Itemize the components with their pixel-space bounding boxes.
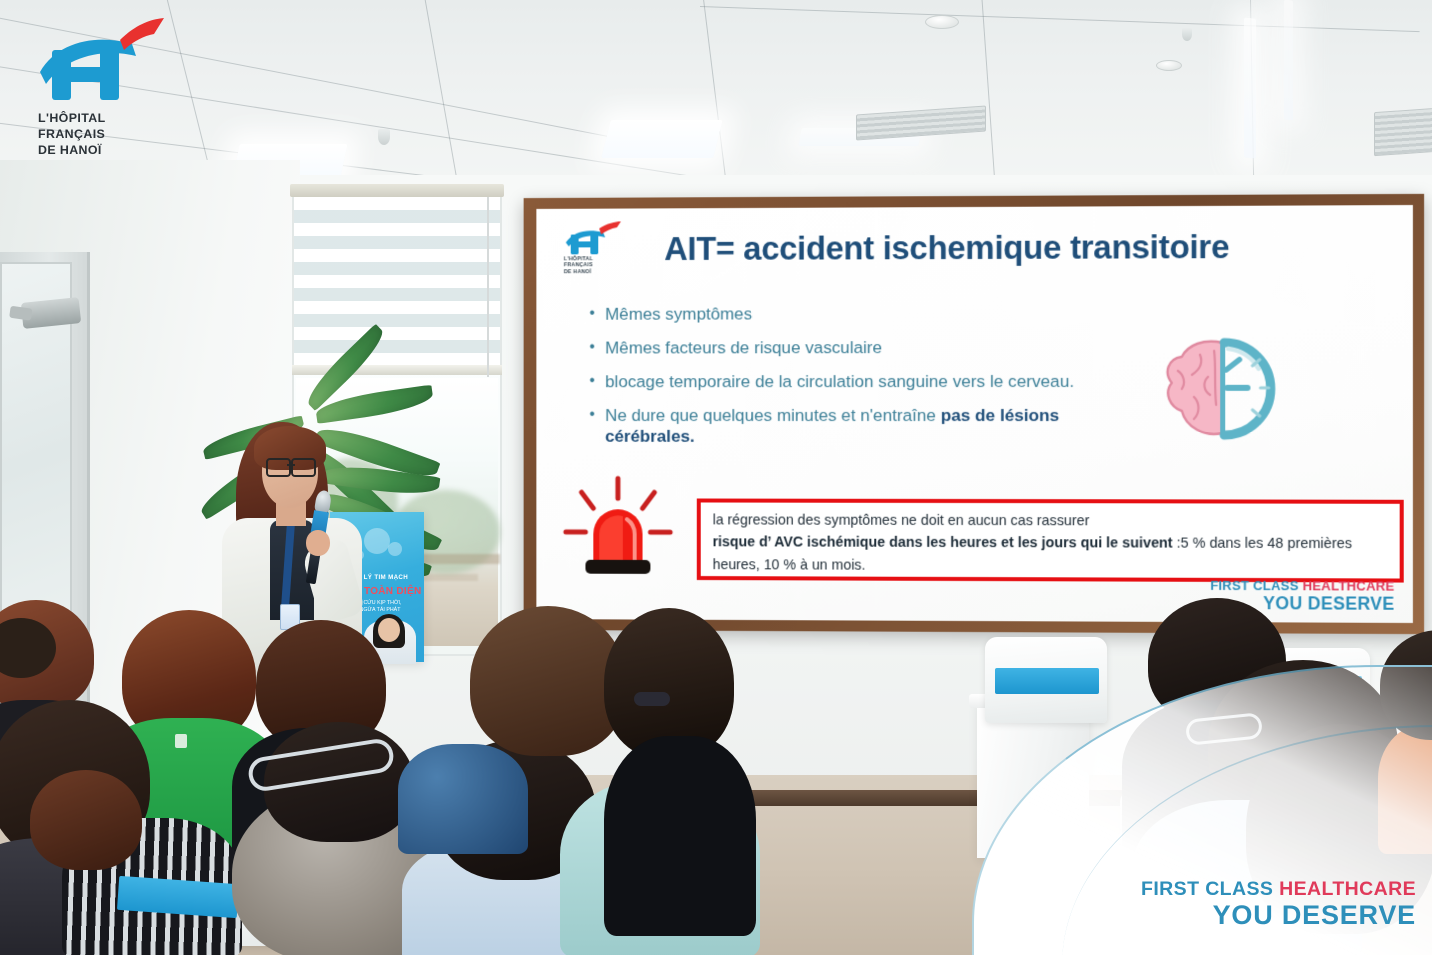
tagline-you-deserve: YOU DESERVE	[1141, 901, 1416, 929]
slide-tagline-healthcare: HEALTHCARE	[1303, 578, 1395, 593]
sprinkler-head-icon	[378, 129, 390, 145]
smoke-detector-icon	[1156, 60, 1182, 71]
roller-blind-bottom-bar	[292, 365, 502, 375]
eyeglasses-icon	[266, 458, 316, 473]
audience-head	[470, 606, 626, 756]
tagline-first-class: FIRST CLASS	[1141, 878, 1279, 900]
air-vent	[856, 105, 986, 140]
bullet-text: blocage temporaire de la circulation san…	[605, 371, 1074, 391]
hospital-logo-text: L'HÔPITAL FRANÇAIS DE HANOÏ	[38, 110, 168, 158]
blind-chain[interactable]	[487, 197, 489, 377]
projection-screen-frame: L'HÔPITAL FRANÇAIS DE HANOÏ AIT= acciden…	[524, 194, 1424, 634]
slide-logo-text: L'HÔPITAL FRANÇAIS DE HANOÏ	[564, 256, 619, 275]
audience-logo-badge	[175, 734, 187, 748]
roller-blind[interactable]	[294, 197, 500, 367]
bullet-text: Mêmes facteurs de risque vasculaire	[605, 337, 882, 357]
tagline-healthcare: HEALTHCARE	[1279, 878, 1416, 900]
ceiling-light-panel	[601, 120, 722, 158]
smoke-detector-icon	[925, 15, 959, 29]
warning-line-1: la régression des symptômes ne doit en a…	[713, 509, 1390, 533]
hair-tie-icon	[634, 692, 670, 706]
bullet-text: Ne dure que quelques minutes et n'entraî…	[605, 405, 941, 425]
presenter-hand	[306, 530, 330, 556]
warning-bold: risque d’ AVC ischémique dans les heures…	[713, 535, 1173, 552]
bullet-item: Mêmes symptômes	[587, 303, 1104, 325]
bullet-item: blocage temporaire de la circulation san…	[587, 371, 1104, 392]
red-siren-alarm-icon	[560, 474, 676, 581]
brain-clock-icon	[1160, 332, 1289, 449]
audience-body	[398, 744, 528, 854]
corner-brand-tagline: FIRST CLASS HEALTHCARE YOU DESERVE	[1141, 878, 1416, 929]
ceiling-light-strip	[1244, 17, 1256, 158]
hospital-logo: L'HÔPITAL FRANÇAIS DE HANOÏ	[28, 18, 168, 163]
slide-tagline-first-class: FIRST CLASS	[1210, 578, 1302, 593]
chair-sash	[995, 668, 1099, 694]
presentation-slide: L'HÔPITAL FRANÇAIS DE HANOÏ AIT= acciden…	[536, 205, 1413, 623]
slide-hospital-logo: L'HÔPITAL FRANÇAIS DE HANOÏ	[560, 220, 623, 284]
ceiling-light-strip	[1284, 0, 1293, 120]
slide-bullet-list: Mêmes symptômes Mêmes facteurs de risque…	[587, 303, 1104, 460]
sprinkler-head-icon	[1182, 28, 1192, 41]
air-vent	[1374, 104, 1432, 156]
warning-line-2: risque d’ AVC ischémique dans les heures…	[713, 532, 1390, 579]
bullet-text: Mêmes symptômes	[605, 304, 752, 324]
audience-head	[0, 618, 56, 678]
warning-callout-box: la régression des symptômes ne doit en a…	[697, 499, 1404, 583]
audience-body	[604, 736, 756, 936]
slide-title: AIT= accident ischemique transitoire	[664, 227, 1396, 268]
bullet-item: Ne dure que quelques minutes et n'entraî…	[587, 405, 1104, 447]
bullet-item: Mêmes facteurs de risque vasculaire	[587, 337, 1104, 359]
audience-head	[30, 770, 142, 870]
roller-blind-headrail	[290, 184, 504, 197]
conference-presentation-photo: L'HÔPITAL FRANÇAIS DE HANOÏ AIT= acciden…	[0, 0, 1432, 955]
